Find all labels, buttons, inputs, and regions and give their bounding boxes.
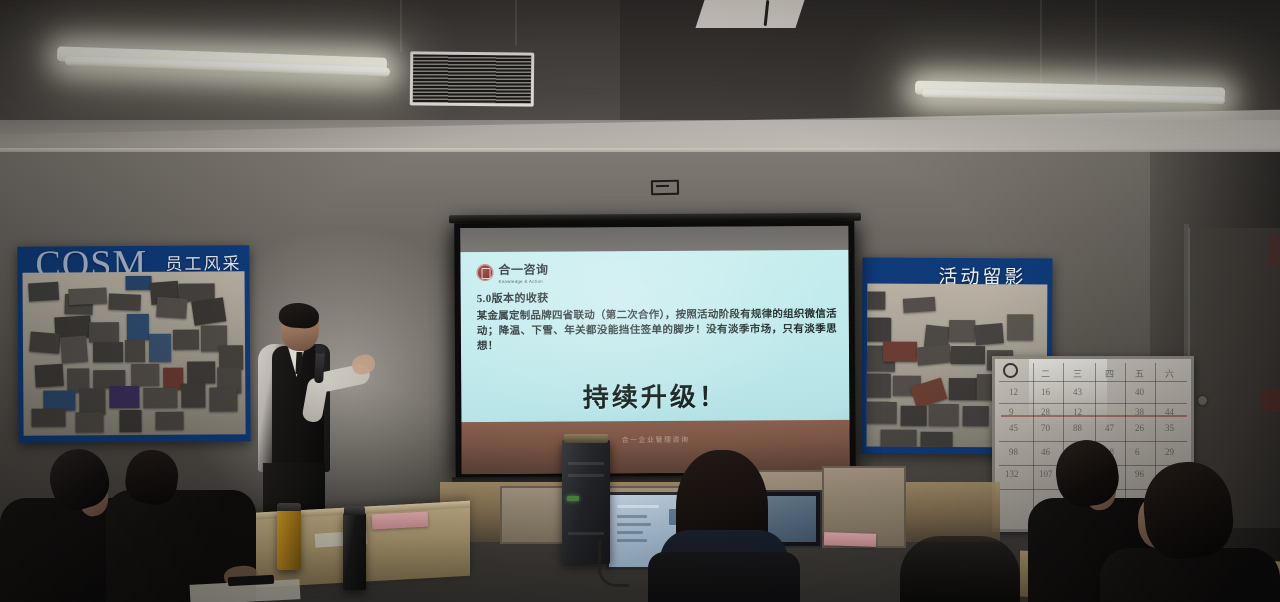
screen-footer-text: 合一企业管理咨询 xyxy=(462,434,850,446)
pc-power-cable xyxy=(598,540,629,587)
pc-tower-top-object xyxy=(564,434,608,443)
collage-photo xyxy=(28,282,59,302)
wall-sign-upper xyxy=(1268,236,1280,266)
whiteboard-cell: 28 xyxy=(1041,407,1050,417)
collage-photo xyxy=(219,345,243,369)
whiteboard-cell: 46 xyxy=(1041,447,1050,457)
microphone xyxy=(314,349,325,383)
collage-photo xyxy=(903,297,936,313)
collage-photo xyxy=(108,293,141,310)
monitor-ui-row xyxy=(617,523,651,526)
screen-letterbox-top xyxy=(460,226,848,252)
logo-text-block: 合一咨询 Knowledge & Action xyxy=(498,261,548,284)
collage-photo xyxy=(867,402,897,424)
pink-document xyxy=(824,532,876,547)
office-chair-back xyxy=(648,552,800,602)
collage-photo xyxy=(173,330,199,350)
slide-heading: 5.0版本的收获 xyxy=(477,288,837,306)
whiteboard-cell: 二 xyxy=(1041,367,1050,380)
collage-photo xyxy=(89,322,119,342)
pink-document xyxy=(372,512,429,530)
pc-drive-slot xyxy=(568,474,604,477)
whiteboard-gridline xyxy=(999,403,1187,404)
screen-footer-band: 合一企业管理咨询 xyxy=(461,420,849,474)
collage-photo xyxy=(126,276,152,290)
whiteboard-cell: 40 xyxy=(1135,387,1144,397)
ceiling-seam xyxy=(1095,0,1097,92)
whiteboard-cell: 38 xyxy=(1135,407,1144,417)
whiteboard-cell: 47 xyxy=(1105,423,1114,433)
monitor-ui-row xyxy=(617,505,659,508)
collage-photo xyxy=(155,412,183,430)
collage-photo xyxy=(974,323,1004,345)
tumbler-lid xyxy=(277,503,301,511)
whiteboard-cell: 29 xyxy=(1165,447,1174,457)
whiteboard-cell: 六 xyxy=(1165,367,1174,380)
whiteboard-cell: 16 xyxy=(1041,387,1050,397)
whiteboard-magnet-icon xyxy=(1003,363,1018,378)
whiteboard-cell: 70 xyxy=(1041,423,1050,433)
slide-logo: 合一咨询 Knowledge & Action xyxy=(476,261,548,284)
whiteboard-red-divider xyxy=(1001,415,1187,417)
collage-photo xyxy=(867,318,892,342)
ceiling-seam xyxy=(1040,0,1042,86)
bulletin-board-left: COSM 员工风采 xyxy=(17,245,250,443)
collage-photo xyxy=(131,364,159,386)
whiteboard-cell: 44 xyxy=(1165,407,1174,417)
whiteboard-cell: 35 xyxy=(1165,423,1174,433)
collage-photo xyxy=(93,342,123,362)
collage-photo xyxy=(68,288,107,306)
pc-drive-slot xyxy=(568,462,604,465)
collage-photo xyxy=(29,331,61,353)
whiteboard-cell: 12 xyxy=(1009,387,1018,397)
pc-drive-slot xyxy=(568,532,604,535)
ceiling-projector-mount xyxy=(695,0,804,28)
collage-photo xyxy=(35,364,64,388)
thermos-cap xyxy=(344,506,365,515)
foreground-shadow-figure xyxy=(900,536,1020,602)
air-conditioning-vent xyxy=(410,51,535,106)
whiteboard-cell: 9 xyxy=(1009,407,1014,417)
door-sign xyxy=(1262,390,1280,412)
logo-name-chinese: 合一咨询 xyxy=(498,261,548,278)
logo-tagline-english: Knowledge & Action xyxy=(499,279,549,284)
door-knob-icon[interactable] xyxy=(1198,396,1207,405)
collage-photo xyxy=(125,340,145,362)
collage-photo xyxy=(867,292,886,310)
collage-photo xyxy=(143,388,177,408)
screen-surface: 合一咨询 Knowledge & Action 5.0版本的收获 某金属定制品牌… xyxy=(460,226,849,474)
collage-photo xyxy=(867,374,891,398)
whiteboard-gridline xyxy=(999,381,1187,382)
whiteboard-gridline xyxy=(1033,363,1034,525)
collage-photo xyxy=(1007,314,1033,340)
collage-photo xyxy=(929,404,959,426)
collage-photo xyxy=(163,368,183,390)
presenter-tie xyxy=(295,352,302,374)
whiteboard-cell: 12 xyxy=(1073,407,1082,417)
microphone-head-icon xyxy=(315,344,327,355)
whiteboard-cell: 132 xyxy=(1005,469,1019,479)
company-logo-icon xyxy=(476,264,493,281)
whiteboard-cell: 45 xyxy=(1009,423,1018,433)
collage-photo xyxy=(209,387,237,411)
collage-photo xyxy=(963,406,989,426)
projection-screen: 合一咨询 Knowledge & Action 5.0版本的收获 某金属定制品牌… xyxy=(454,221,856,479)
whiteboard-cell: 98 xyxy=(1009,447,1018,457)
collage-photo xyxy=(883,342,917,362)
slide-paragraph: 某金属定制品牌四省联动（第二次合作），按照活动阶段有规律的组织微信活动；降温、下… xyxy=(477,307,837,354)
collage-photo xyxy=(79,388,105,414)
slide-punchline: 持续升级！ xyxy=(461,376,849,415)
training-room-photo: COSM 员工风采 xyxy=(0,0,1280,602)
whiteboard-cell: 6 xyxy=(1135,447,1140,457)
whiteboard-cell: 107 xyxy=(1039,469,1053,479)
whiteboard-cell: 43 xyxy=(1073,387,1082,397)
whiteboard-cell: 三 xyxy=(1073,367,1082,380)
yellow-tumbler xyxy=(277,508,301,570)
whiteboard-cell: 26 xyxy=(1135,423,1144,433)
collage-photo xyxy=(951,346,985,364)
whiteboard-cell: 五 xyxy=(1135,367,1144,380)
presentation-slide: 合一咨询 Knowledge & Action 5.0版本的收获 某金属定制品牌… xyxy=(460,250,849,434)
collage-photo xyxy=(901,406,927,426)
whiteboard-cell: 96 xyxy=(1135,469,1144,479)
black-thermos-flask xyxy=(343,512,366,590)
collage-photo xyxy=(156,297,187,319)
collage-photo xyxy=(921,432,953,448)
collage-photo xyxy=(916,344,952,365)
collage-photo xyxy=(31,408,65,426)
collage-photo xyxy=(109,386,139,408)
wall-bracket-icon xyxy=(651,180,679,195)
collage-photo xyxy=(187,361,215,383)
board-photo-collage-left xyxy=(23,271,246,436)
monitor-ui-row xyxy=(617,531,643,534)
pc-power-led-icon xyxy=(567,496,579,501)
collage-photo xyxy=(127,314,149,340)
collage-photo xyxy=(949,320,975,342)
monitor-ui-row xyxy=(617,515,647,518)
collage-photo xyxy=(149,334,171,362)
ceiling-seam xyxy=(515,0,517,46)
whiteboard-cell: 88 xyxy=(1073,423,1082,433)
collage-photo xyxy=(119,410,141,432)
collage-photo xyxy=(181,384,205,408)
collage-photo xyxy=(60,335,88,363)
collage-photo xyxy=(191,297,226,325)
collage-photo xyxy=(949,378,977,400)
collage-photo xyxy=(881,430,917,448)
ceiling-seam xyxy=(400,0,402,52)
slide-body: 5.0版本的收获 某金属定制品牌四省联动（第二次合作），按照活动阶段有规律的组织… xyxy=(477,288,837,354)
collage-photo xyxy=(75,412,103,432)
whiteboard-cell: 四 xyxy=(1105,367,1114,380)
